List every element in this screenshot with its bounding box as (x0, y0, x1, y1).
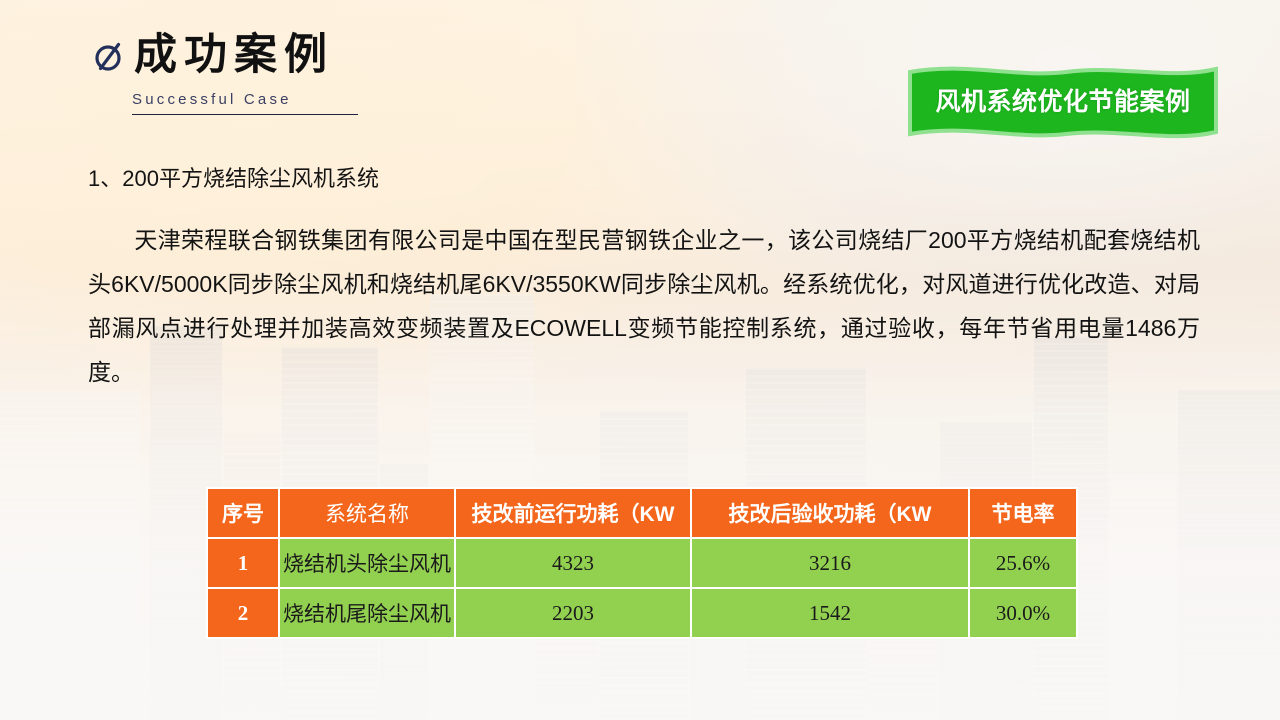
slide-root: 成功案例 Successful Case 风机系统优化节能案例 1、200平方烧… (0, 0, 1280, 720)
slide-header: 成功案例 Successful Case (92, 34, 552, 115)
column-header-index: 序号 (207, 488, 279, 538)
body-paragraph: 天津荣程联合钢铁集团有限公司是中国在型民营钢铁企业之一，该公司烧结厂200平方烧… (88, 218, 1200, 394)
ribbon-label: 风机系统优化节能案例 (906, 82, 1220, 118)
slashed-circle-icon (92, 39, 126, 73)
page-title: 成功案例 (134, 34, 334, 77)
cell-system: 烧结机头除尘风机 (279, 538, 455, 588)
cell-before: 2203 (455, 588, 691, 638)
cell-index: 1 (207, 538, 279, 588)
cell-after: 3216 (691, 538, 969, 588)
cell-saving-rate: 25.6% (969, 538, 1077, 588)
column-header-after: 技改后验收功耗（KW (691, 488, 969, 538)
table-row: 1 烧结机头除尘风机 4323 3216 25.6% (207, 538, 1077, 588)
results-table-wrapper: 序号 系统名称 技改前运行功耗（KW 技改后验收功耗（KW 节电率 1 烧结机头… (206, 487, 1076, 639)
cell-saving-rate: 30.0% (969, 588, 1077, 638)
results-table: 序号 系统名称 技改前运行功耗（KW 技改后验收功耗（KW 节电率 1 烧结机头… (206, 487, 1078, 639)
page-subtitle: Successful Case (132, 91, 552, 108)
body-content: 1、200平方烧结除尘风机系统 天津荣程联合钢铁集团有限公司是中国在型民营钢铁企… (88, 166, 1200, 394)
column-header-system: 系统名称 (279, 488, 455, 538)
title-row: 成功案例 (92, 34, 552, 77)
table-head: 序号 系统名称 技改前运行功耗（KW 技改后验收功耗（KW 节电率 (207, 488, 1077, 538)
cell-before: 4323 (455, 538, 691, 588)
cell-after: 1542 (691, 588, 969, 638)
section-heading: 1、200平方烧结除尘风机系统 (88, 166, 1200, 192)
table-body: 1 烧结机头除尘风机 4323 3216 25.6% 2 烧结机尾除尘风机 22… (207, 538, 1077, 638)
cell-system: 烧结机尾除尘风机 (279, 588, 455, 638)
column-header-saving-rate: 节电率 (969, 488, 1077, 538)
title-underline (132, 114, 358, 115)
paragraph-text: 天津荣程联合钢铁集团有限公司是中国在型民营钢铁企业之一，该公司烧结厂200平方烧… (88, 227, 1200, 385)
ribbon-banner: 风机系统优化节能案例 (906, 60, 1220, 145)
table-header-row: 序号 系统名称 技改前运行功耗（KW 技改后验收功耗（KW 节电率 (207, 488, 1077, 538)
cell-index: 2 (207, 588, 279, 638)
table-row: 2 烧结机尾除尘风机 2203 1542 30.0% (207, 588, 1077, 638)
column-header-before: 技改前运行功耗（KW (455, 488, 691, 538)
